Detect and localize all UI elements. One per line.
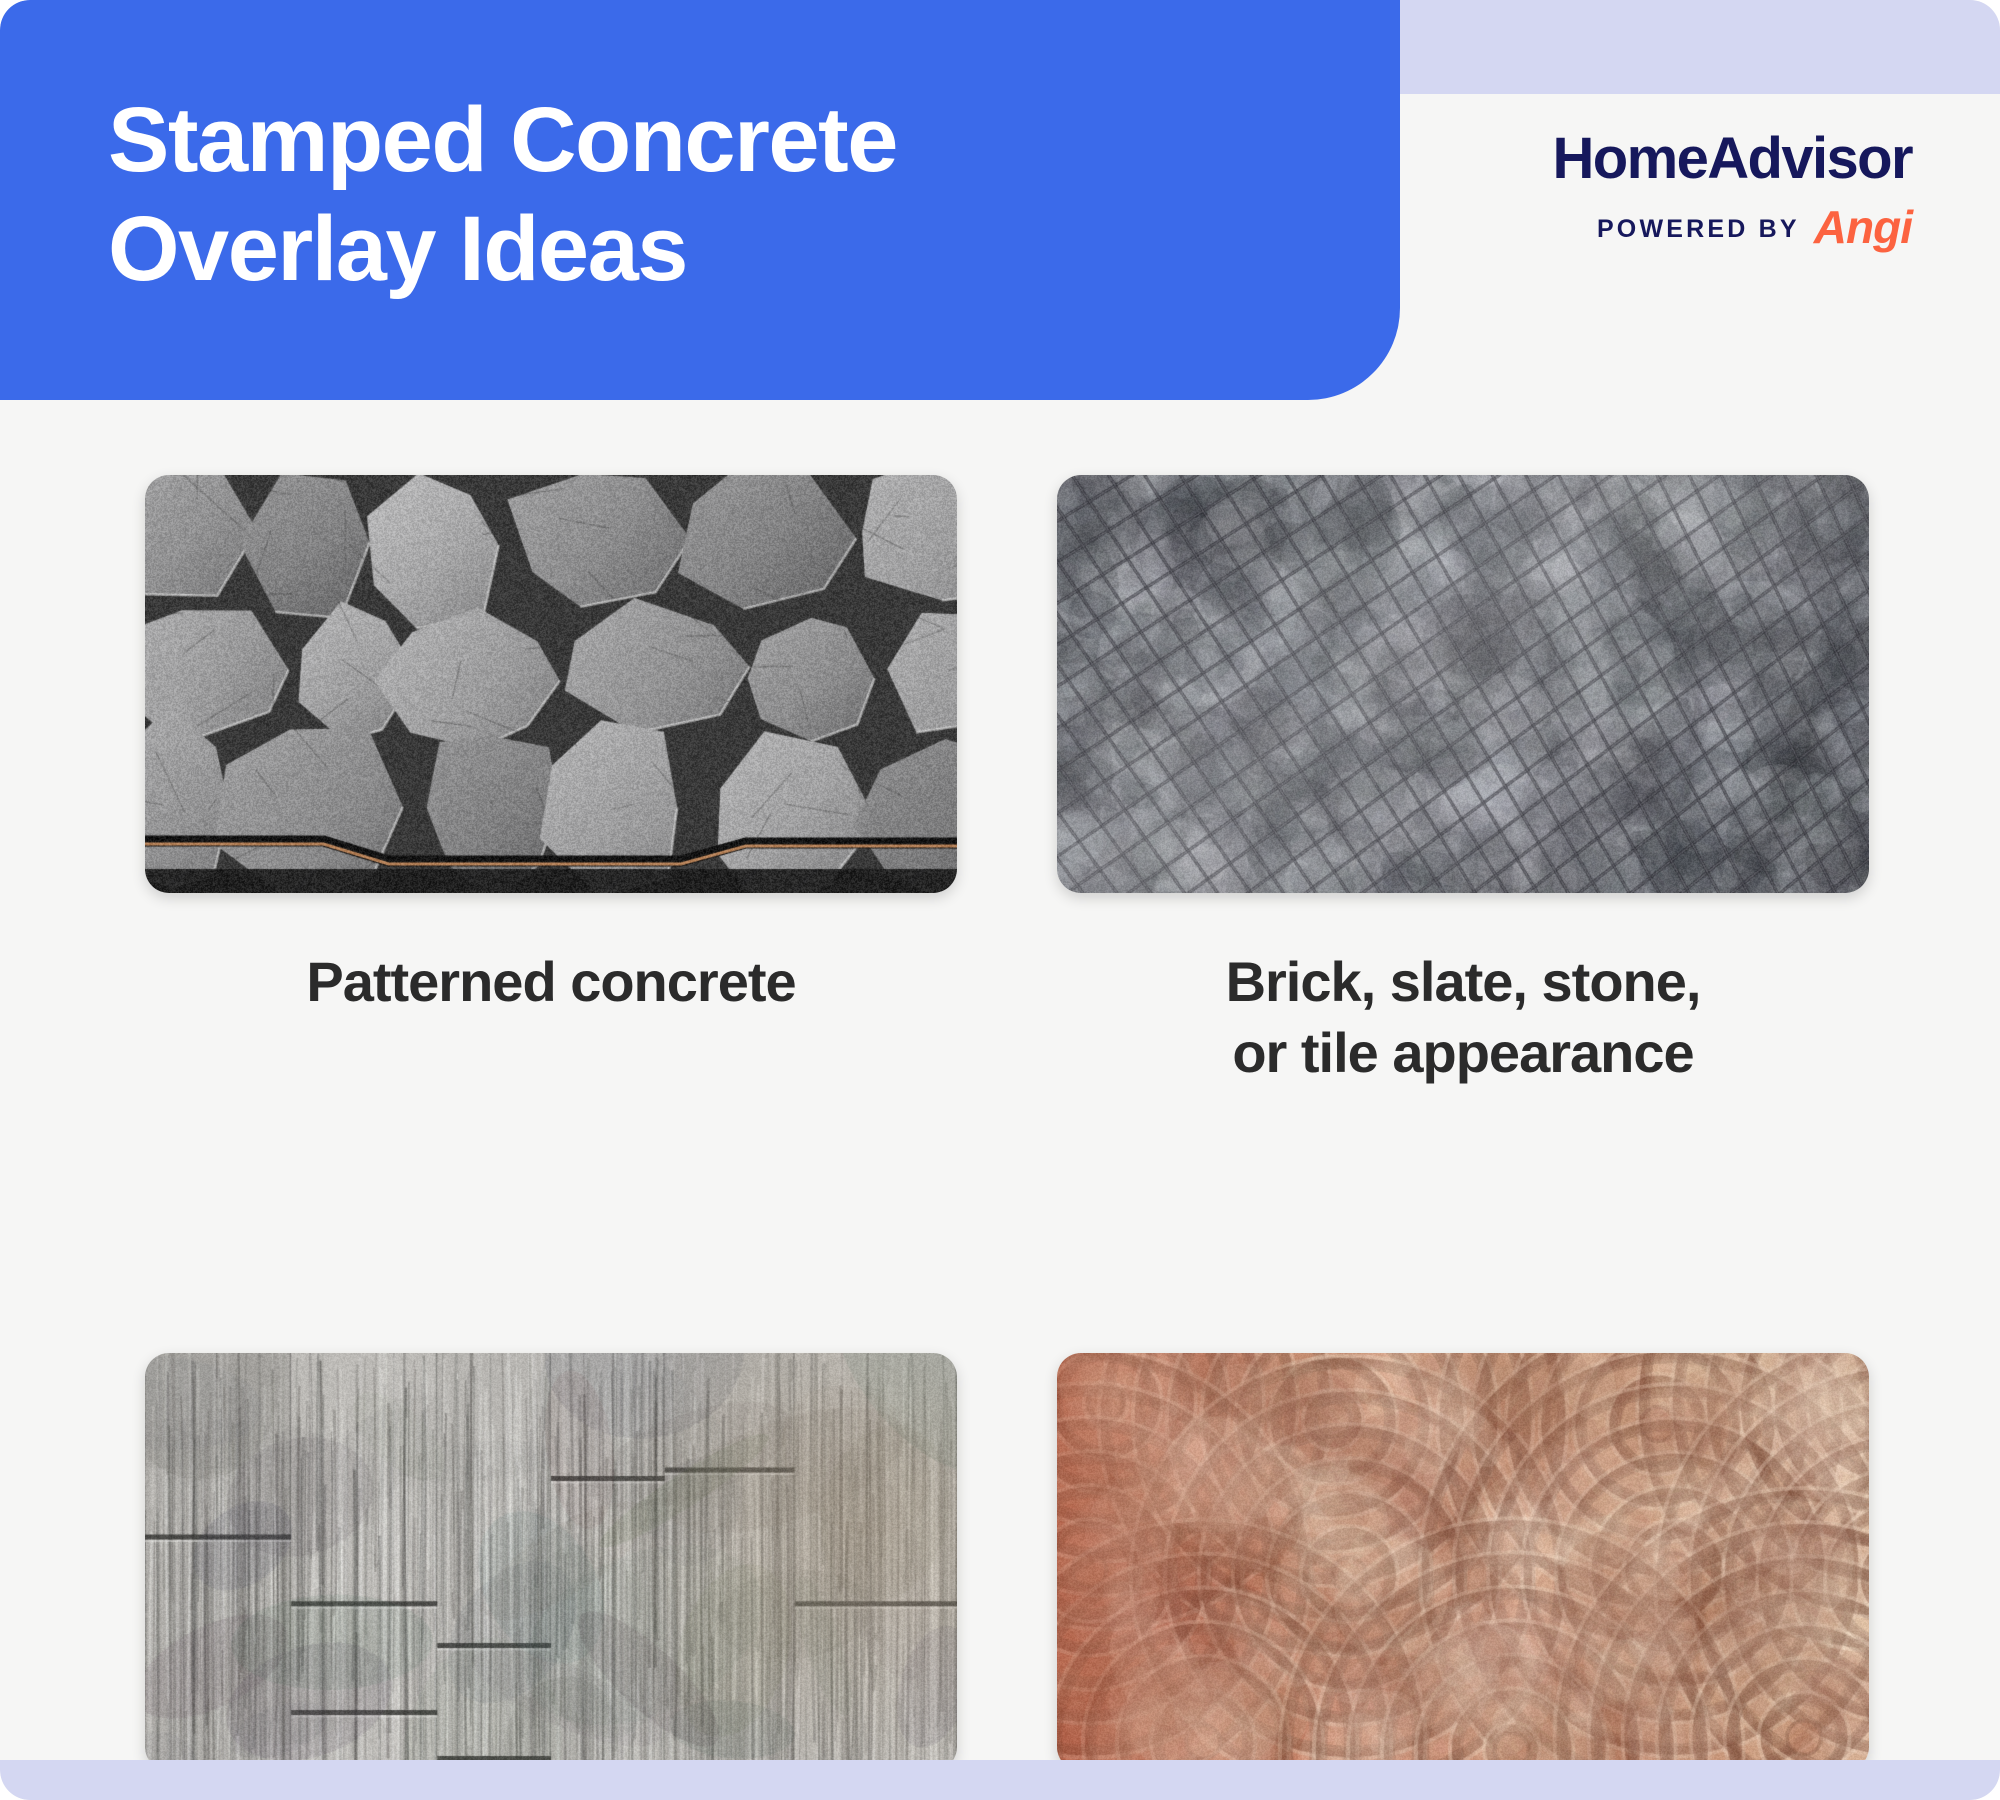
powered-by-row: POWERED BY Angi — [1553, 206, 1913, 252]
bottom-accent-strip — [0, 1760, 2000, 1800]
idea-card: Patterned concrete — [145, 475, 957, 1088]
idea-card: Brick, slate, stone, or tile appearance — [1057, 475, 1869, 1088]
angi-brandmark: Angi — [1814, 204, 1912, 250]
idea-card: Decorative imprint — [1057, 1353, 1869, 1800]
brand-logo: HomeAdvisor POWERED BY Angi — [1553, 130, 1913, 252]
idea-thumbnail — [1057, 475, 1869, 893]
grid-row-1: Patterned concrete Brick, slate, stone, … — [145, 475, 1869, 1088]
idea-thumbnail — [145, 1353, 957, 1771]
concentric-rings-texture-image — [1057, 1353, 1869, 1771]
infographic-page: Stamped Concrete Overlay Ideas HomeAdvis… — [0, 0, 2000, 1800]
page-title: Stamped Concrete Overlay Ideas — [108, 86, 1288, 303]
idea-card: Wood appearance — [145, 1353, 957, 1800]
idea-thumbnail — [145, 475, 957, 893]
grid-row-2: Wood appearance Decorative imprint — [145, 1353, 1869, 1800]
idea-caption: Patterned concrete — [145, 947, 957, 1018]
flagstone-texture-image — [145, 475, 957, 893]
homeadvisor-wordmark: HomeAdvisor — [1553, 130, 1913, 188]
ashlar-slate-texture-image — [1057, 475, 1869, 893]
ideas-grid: Patterned concrete Brick, slate, stone, … — [145, 475, 1869, 1800]
idea-caption: Brick, slate, stone, or tile appearance — [1057, 947, 1869, 1088]
header-banner: Stamped Concrete Overlay Ideas — [0, 0, 1400, 400]
wood-plank-texture-image — [145, 1353, 957, 1771]
powered-by-label: POWERED BY — [1597, 215, 1800, 244]
idea-thumbnail — [1057, 1353, 1869, 1771]
